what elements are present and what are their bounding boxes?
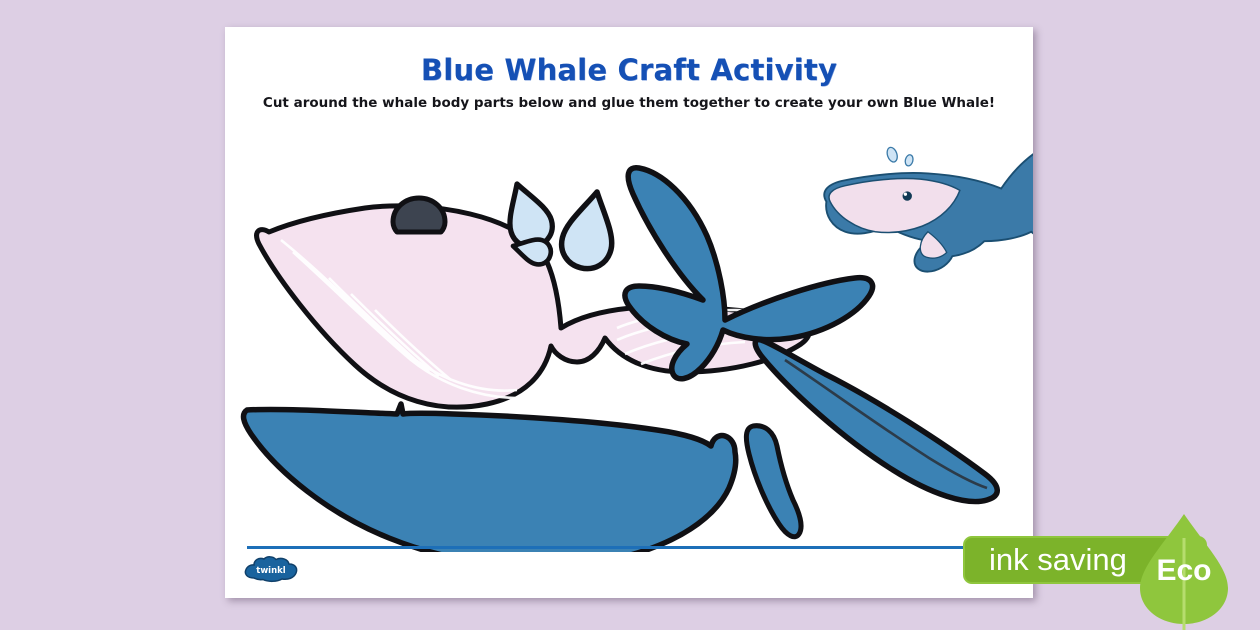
worksheet-page: Blue Whale Craft Activity Cut around the… bbox=[225, 27, 1033, 598]
page-subtitle: Cut around the whale body parts below an… bbox=[225, 95, 1033, 111]
ink-saving-label: ink saving bbox=[989, 542, 1127, 578]
whale-body[interactable] bbox=[244, 404, 736, 552]
twinkl-logo[interactable]: twinkl bbox=[243, 555, 299, 585]
page-title: Blue Whale Craft Activity bbox=[225, 53, 1033, 87]
whale-pectoral-fin[interactable] bbox=[755, 340, 997, 502]
twinkl-logo-text: twinkl bbox=[256, 566, 286, 576]
assembled-blue-whale bbox=[824, 146, 1033, 272]
craft-pieces-artboard bbox=[225, 122, 1033, 552]
eco-label: Eco bbox=[1136, 532, 1232, 610]
whale-dorsal-fin[interactable] bbox=[746, 426, 801, 537]
whale-eye[interactable] bbox=[393, 198, 445, 232]
footer-divider bbox=[247, 546, 1011, 549]
ink-saving-eco-badge: ink saving Eco bbox=[963, 532, 1207, 588]
